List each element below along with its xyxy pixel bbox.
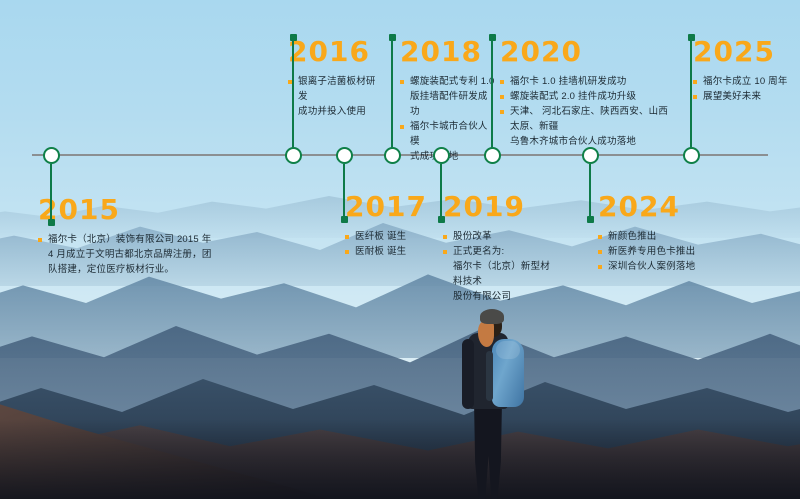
timeline-node-2015[interactable] (43, 147, 60, 164)
milestone-year-label: 2025 (693, 38, 793, 66)
bottom-vignette (0, 419, 800, 499)
timeline-stem-cap-2025 (688, 34, 695, 41)
timeline-stem-cap-2020 (489, 34, 496, 41)
milestone-bullet: 新医养专用色卡推出 (598, 244, 713, 259)
milestone-year-label: 2024 (598, 193, 713, 221)
timeline-stem-2025 (690, 37, 692, 149)
milestone-bullet: 股份有限公司 (443, 289, 558, 304)
timeline-node-2016[interactable] (285, 147, 302, 164)
timeline-stem-2015 (50, 164, 52, 222)
milestone-year-label: 2020 (500, 38, 675, 66)
timeline-stem-2016 (292, 37, 294, 149)
milestone-bullet: 福尔卡 1.0 挂墙机研发成功 (500, 74, 675, 89)
timeline-node-2017[interactable] (336, 147, 353, 164)
hiker-figure (438, 305, 558, 499)
milestone-bullet: 深圳合伙人案例落地 (598, 259, 713, 274)
milestone-block-2025: 2025福尔卡成立 10 周年展望美好未来 (693, 38, 793, 104)
milestone-year-label: 2015 (38, 196, 223, 224)
milestone-block-2016: 2016银离子洁菌板材研发成功并投入使用 (288, 38, 383, 119)
milestone-year-label: 2017 (345, 193, 427, 221)
timeline-stem-cap-2017 (341, 216, 348, 223)
milestone-block-2024: 2024新颜色推出新医养专用色卡推出深圳合伙人案例落地 (598, 193, 713, 274)
milestone-bullet: 股份改革 (443, 229, 558, 244)
hiker-arm (462, 339, 474, 409)
milestone-bullet: 成功并投入使用 (288, 104, 383, 119)
milestone-bullet: 队搭建，定位医疗板材行业。 (38, 262, 223, 277)
milestone-bullet-list: 新颜色推出新医养专用色卡推出深圳合伙人案例落地 (598, 229, 713, 274)
timeline-stem-2019 (440, 164, 442, 219)
timeline-stem-cap-2024 (587, 216, 594, 223)
milestone-year-label: 2019 (443, 193, 558, 221)
hiker-backpack-strap (486, 351, 493, 401)
timeline-stem-2017 (343, 164, 345, 219)
milestone-year-label: 2016 (288, 38, 383, 66)
milestone-bullet: 福尔卡成立 10 周年 (693, 74, 793, 89)
milestone-bullet-list: 银离子洁菌板材研发成功并投入使用 (288, 74, 383, 119)
milestone-bullet: 天津、 河北石家庄、陕西西安、山西太原、新疆 (500, 104, 675, 134)
timeline-stem-2024 (589, 164, 591, 219)
milestone-bullet: 螺旋装配式专利 1.0 (400, 74, 495, 89)
milestone-block-2015: 2015福尔卡（北京）装饰有限公司 2015 年4 月成立于文明古都北京品牌注册… (38, 196, 223, 277)
timeline-node-2020[interactable] (484, 147, 501, 164)
milestone-bullet: 银离子洁菌板材研发 (288, 74, 383, 104)
timeline-node-2024[interactable] (582, 147, 599, 164)
milestone-bullet: 医耐板 诞生 (345, 244, 427, 259)
hiker-hair (478, 321, 494, 347)
milestone-bullet: 福尔卡（北京）装饰有限公司 2015 年 (38, 232, 223, 247)
milestone-bullet: 新颜色推出 (598, 229, 713, 244)
timeline-stem-2018 (391, 37, 393, 149)
milestone-bullet-list: 医纤板 诞生医耐板 诞生 (345, 229, 427, 259)
timeline-node-2025[interactable] (683, 147, 700, 164)
hiker-backpack-lid (496, 341, 520, 359)
milestone-block-2020: 2020福尔卡 1.0 挂墙机研发成功螺旋装配式 2.0 挂件成功升级天津、 河… (500, 38, 675, 149)
timeline-node-2019[interactable] (433, 147, 450, 164)
timeline-stem-2020 (491, 37, 493, 149)
milestone-bullet-list: 股份改革正式更名为:福尔卡（北京）新型材料技术股份有限公司 (443, 229, 558, 304)
milestone-bullet: 福尔卡（北京）新型材料技术 (443, 259, 558, 289)
milestone-bullet: 4 月成立于文明古都北京品牌注册，团 (38, 247, 223, 262)
milestone-bullet: 螺旋装配式 2.0 挂件成功升级 (500, 89, 675, 104)
milestone-year-label: 2018 (400, 38, 495, 66)
milestone-block-2017: 2017医纤板 诞生医耐板 诞生 (345, 193, 427, 259)
milestone-bullet: 医纤板 诞生 (345, 229, 427, 244)
milestone-bullet: 正式更名为: (443, 244, 558, 259)
milestone-bullet-list: 福尔卡（北京）装饰有限公司 2015 年4 月成立于文明古都北京品牌注册，团队搭… (38, 232, 223, 277)
milestone-bullet-list: 福尔卡 1.0 挂墙机研发成功螺旋装配式 2.0 挂件成功升级天津、 河北石家庄… (500, 74, 675, 149)
milestone-block-2019: 2019股份改革正式更名为:福尔卡（北京）新型材料技术股份有限公司 (443, 193, 558, 304)
timeline-stem-cap-2015 (48, 219, 55, 226)
milestone-bullet: 展望美好未来 (693, 89, 793, 104)
milestone-bullet-list: 福尔卡成立 10 周年展望美好未来 (693, 74, 793, 104)
timeline-stem-cap-2018 (389, 34, 396, 41)
milestone-bullet: 福尔卡城市合伙人模 (400, 119, 495, 149)
timeline-stem-cap-2016 (290, 34, 297, 41)
hiker-cap (480, 309, 504, 324)
timeline-stem-cap-2019 (438, 216, 445, 223)
timeline-node-2018[interactable] (384, 147, 401, 164)
hiker-legs (474, 401, 502, 499)
timeline-infographic: 2015福尔卡（北京）装饰有限公司 2015 年4 月成立于文明古都北京品牌注册… (0, 0, 800, 499)
milestone-bullet: 版挂墙配件研发成功 (400, 89, 495, 119)
milestone-block-2018: 2018螺旋装配式专利 1.0版挂墙配件研发成功福尔卡城市合伙人模式成功落地 (400, 38, 495, 164)
